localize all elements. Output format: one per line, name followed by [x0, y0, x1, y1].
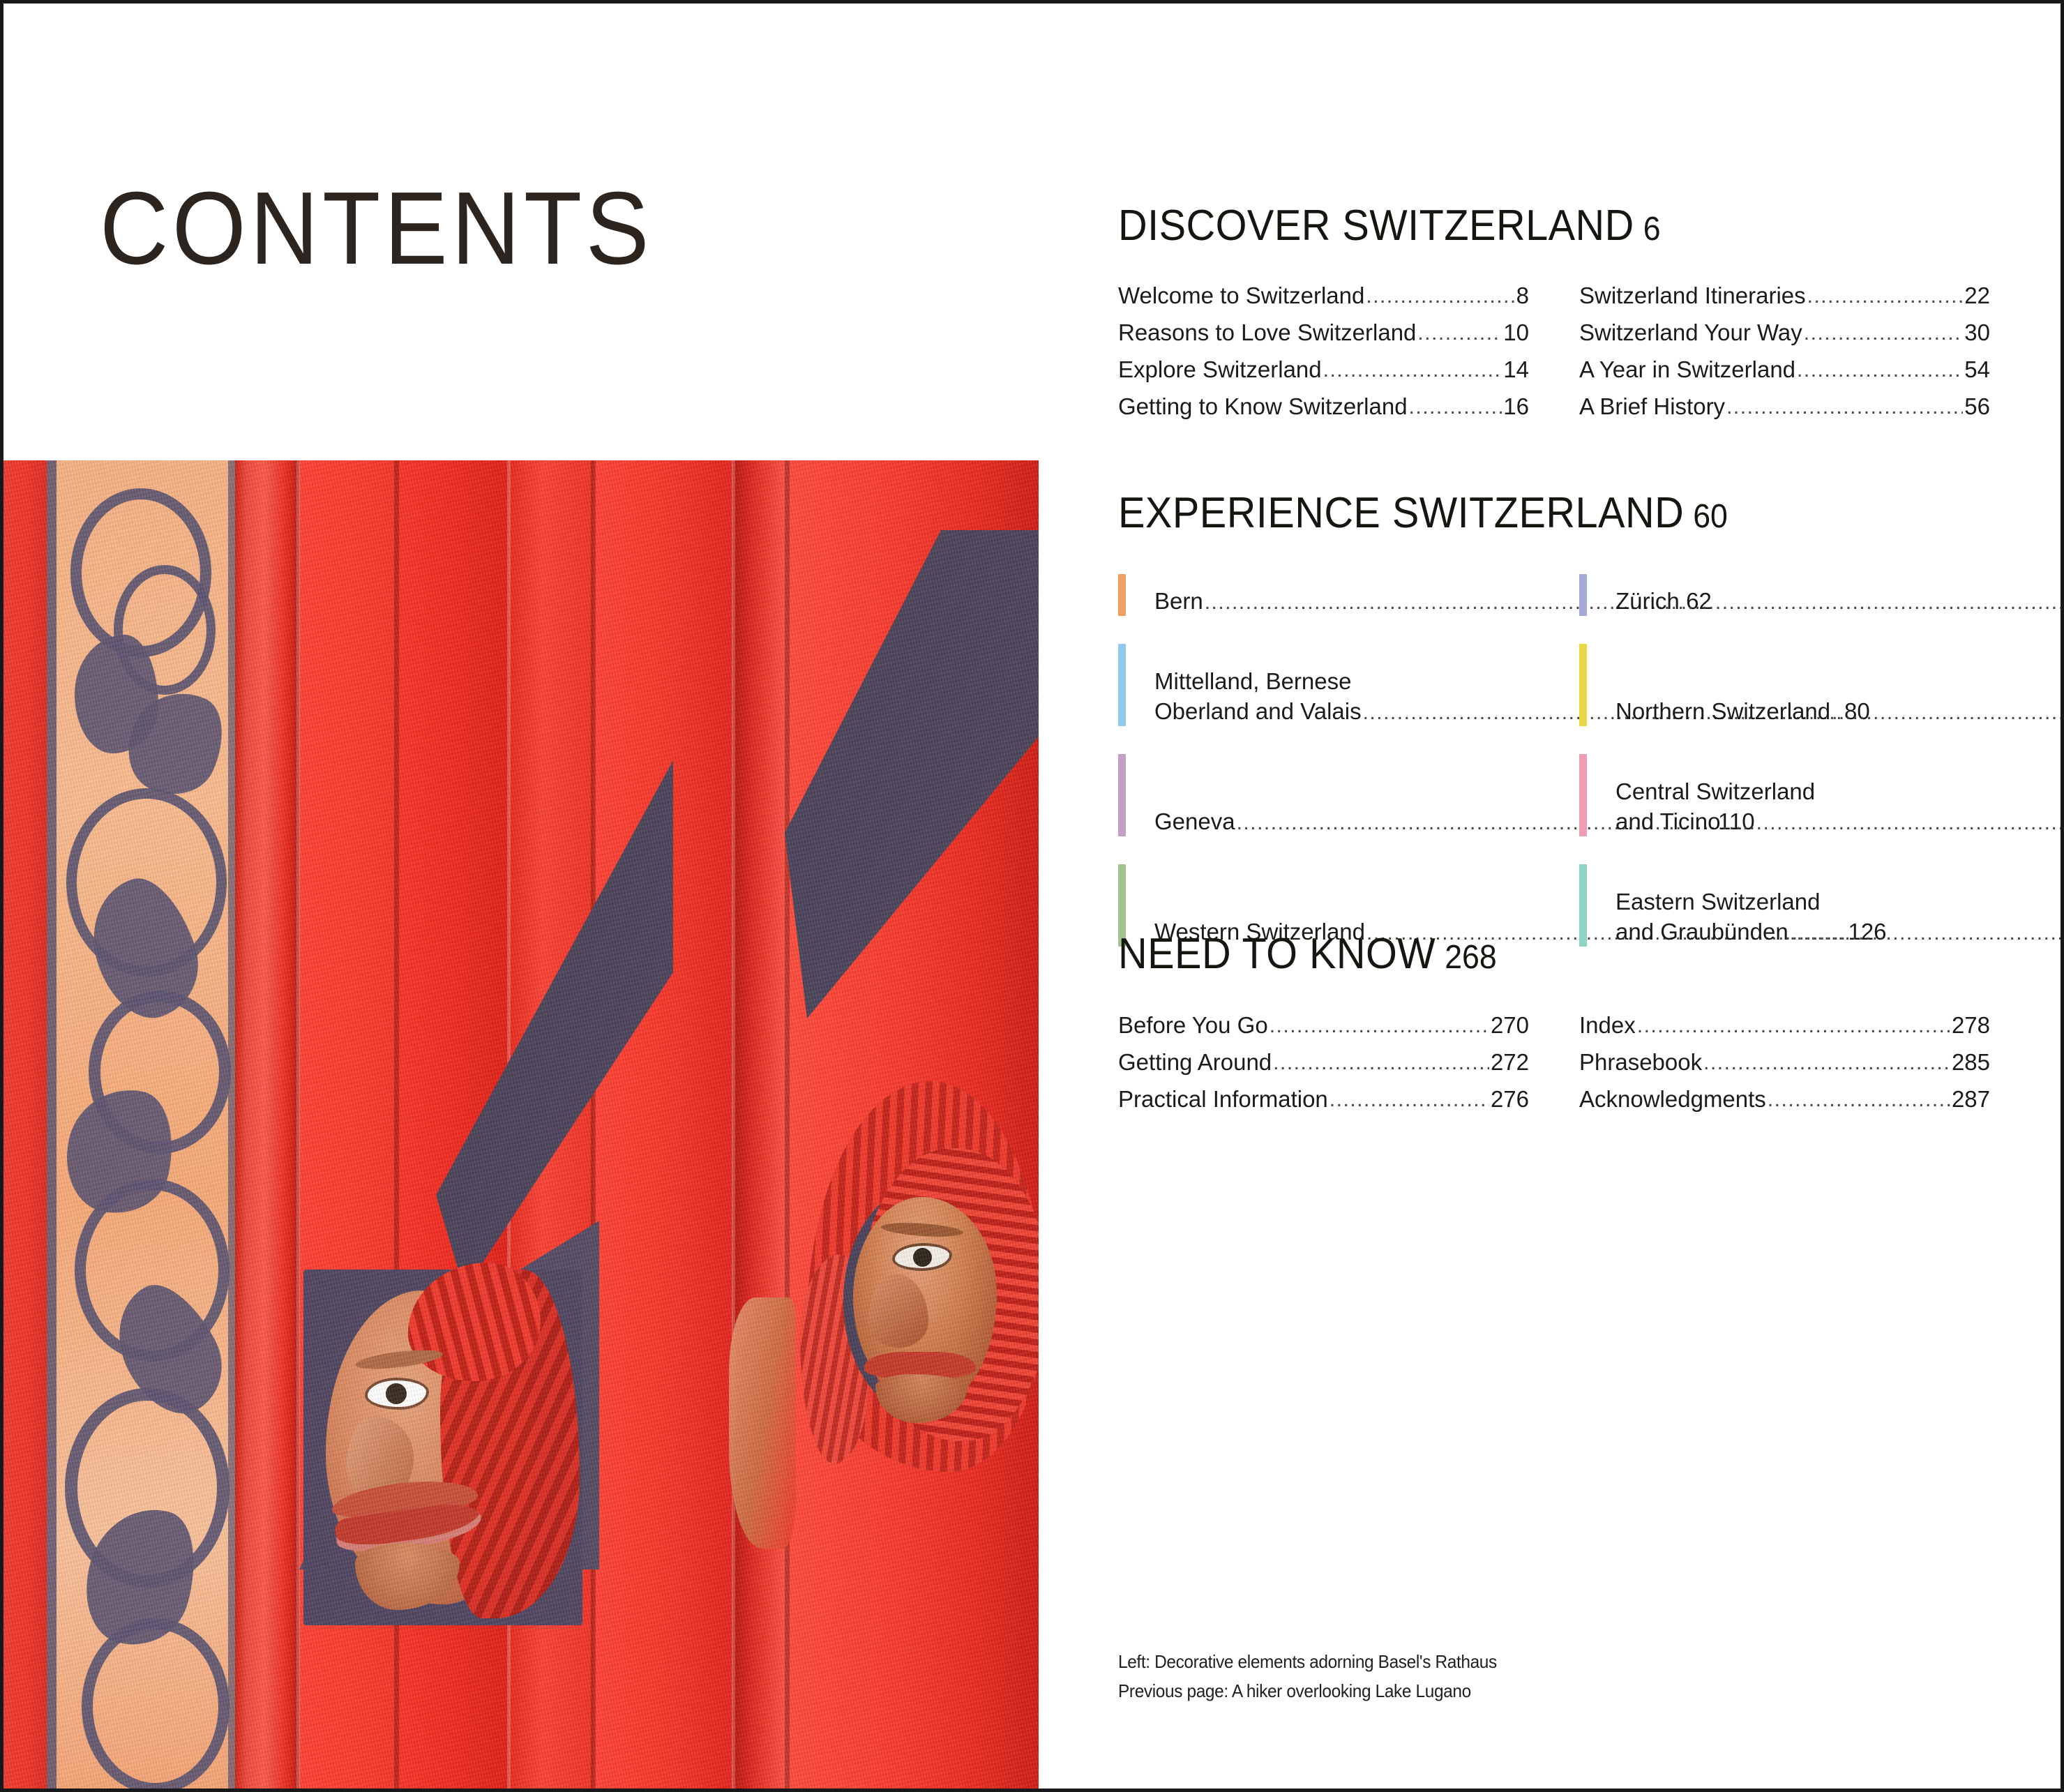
photo-profile-sliver: [729, 1297, 796, 1549]
toc-entry-page: 272: [1491, 1051, 1529, 1074]
dot-leader: ........................................…: [1273, 1053, 1489, 1074]
section-heading-discover: DISCOVER SWITZERLAND6: [1118, 204, 1929, 248]
photo-column-e: [733, 460, 788, 1792]
region-line: Zürich .................................…: [1615, 587, 2064, 616]
toc-entry-page: 285: [1952, 1051, 1990, 1074]
toc-entry-label: Phrasebook: [1579, 1051, 1702, 1074]
toc-entry-page: 276: [1491, 1087, 1529, 1110]
discover-column-left: Welcome to Switzerland .................…: [1118, 284, 1529, 432]
toc-entry-label: A Year in Switzerland: [1579, 358, 1795, 381]
dot-leader: ........................................…: [1323, 360, 1502, 381]
dot-leader: ........................................…: [1329, 1090, 1489, 1110]
photo-column-d: [594, 460, 733, 1792]
dot-leader: ........................................…: [1637, 1016, 1950, 1037]
dot-leader: ........................................…: [1807, 286, 1964, 307]
section-heading-page: 268: [1445, 939, 1496, 976]
section-experience: EXPERIENCE SWITZERLAND60 Bern ..........…: [1118, 492, 1990, 974]
toc-entry[interactable]: A Brief History ........................…: [1579, 395, 1990, 432]
page-title: CONTENTS: [100, 170, 653, 288]
toc-page: CONTENTS DISCOVER SWITZERLAND6 Welcome t…: [0, 0, 2064, 1792]
toc-entry-label: Practical Information: [1118, 1087, 1328, 1110]
photo-groove-6: [785, 460, 790, 1792]
toc-region-entry[interactable]: Bern ...................................…: [1118, 574, 1529, 616]
toc-entry-page: 22: [1964, 284, 1990, 307]
region-label: Geneva: [1154, 807, 1235, 836]
region-color-bar: [1118, 574, 1126, 616]
region-line-1: Central Switzerland: [1615, 777, 2064, 806]
toc-entry-label: Getting to Know Switzerland: [1118, 395, 1408, 418]
region-line-1: Eastern Switzerland: [1615, 887, 2064, 917]
dot-leader: ........................................…: [1366, 286, 1514, 307]
toc-region-entry[interactable]: Mittelland, Bernese Oberland and Valais …: [1118, 644, 1529, 726]
section-need-to-know: NEED TO KNOW268 Before You Go ..........…: [1118, 933, 1990, 1124]
toc-entry-page: 270: [1491, 1014, 1529, 1037]
photo-column-a: [235, 460, 299, 1792]
toc-entry[interactable]: Explore Switzerland ....................…: [1118, 358, 1529, 395]
dot-leader: ........................................…: [1703, 1053, 1950, 1074]
region-label: Zürich: [1615, 587, 1680, 616]
region-label-cont: Oberland and Valais: [1154, 697, 1362, 726]
needtoknow-column-left: Before You Go ..........................…: [1118, 1014, 1529, 1124]
dot-leader: ........................................…: [1270, 1016, 1489, 1037]
toc-entry-page: 10: [1503, 321, 1529, 344]
region-color-bar: [1579, 574, 1587, 616]
toc-entry-page: 278: [1952, 1014, 1990, 1037]
caption-line-1: Left: Decorative elements adorning Basel…: [1118, 1647, 1497, 1676]
section-heading-need-to-know: NEED TO KNOW268: [1118, 933, 1929, 976]
section-heading-text: DISCOVER SWITZERLAND: [1118, 202, 1634, 250]
toc-entry-page: 56: [1964, 395, 1990, 418]
dot-leader: ........................................…: [1832, 700, 2064, 726]
toc-entry[interactable]: Practical Information ..................…: [1118, 1087, 1529, 1124]
toc-entry-label: Switzerland Itineraries: [1579, 284, 1806, 307]
region-line-2: and Ticino .............................…: [1615, 807, 2064, 836]
region-color-bar: [1579, 644, 1587, 726]
carved-face-left: [303, 1270, 582, 1625]
region-color-bar: [1118, 754, 1126, 836]
toc-entry-label: Index: [1579, 1014, 1636, 1037]
photo-groove-5: [732, 460, 735, 1792]
section-discover: DISCOVER SWITZERLAND6 Welcome to Switzer…: [1118, 204, 1990, 432]
toc-region-entry[interactable]: Geneva .................................…: [1118, 754, 1529, 836]
toc-entry[interactable]: Welcome to Switzerland .................…: [1118, 284, 1529, 321]
region-color-bar: [1579, 754, 1587, 836]
discover-column-right: Switzerland Itineraries ................…: [1579, 284, 1990, 432]
toc-entry[interactable]: A Year in Switzerland ..................…: [1579, 358, 1990, 395]
rathaus-photo: [3, 460, 1039, 1792]
region-line: Northern Switzerland ...................…: [1615, 697, 2064, 726]
region-label-cont: and Ticino: [1615, 807, 1720, 836]
toc-entry-page: 287: [1952, 1087, 1990, 1110]
toc-entry[interactable]: Index ..................................…: [1579, 1014, 1990, 1051]
toc-entry-page: 54: [1964, 358, 1990, 381]
toc-entry[interactable]: Switzerland Your Way ...................…: [1579, 321, 1990, 358]
dot-leader: ........................................…: [1417, 323, 1502, 344]
toc-entry[interactable]: Getting Around .........................…: [1118, 1051, 1529, 1087]
region-label: Bern: [1154, 587, 1203, 616]
region-label: Central Switzerland: [1615, 777, 1815, 806]
photo-ornament-panel: [47, 460, 235, 1792]
dot-leader: ........................................…: [1722, 810, 2064, 836]
needtoknow-column-right: Index ..................................…: [1579, 1014, 1990, 1124]
dot-leader: ........................................…: [1804, 323, 1964, 344]
toc-entry-page: 14: [1503, 358, 1529, 381]
photo-groove-1: [296, 460, 300, 1792]
toc-entry-label: Getting Around: [1118, 1051, 1272, 1074]
photo-caption: Left: Decorative elements adorning Basel…: [1118, 1647, 1497, 1706]
toc-entry-label: Switzerland Your Way: [1579, 321, 1802, 344]
toc-entry-label: Explore Switzerland: [1118, 358, 1322, 381]
region-label: Northern Switzerland: [1615, 697, 1830, 726]
dot-leader: ........................................…: [1797, 360, 1963, 381]
toc-entry[interactable]: Before You Go ..........................…: [1118, 1014, 1529, 1051]
photo-red-edge-band: [3, 460, 47, 1792]
toc-entry-page: 16: [1503, 395, 1529, 418]
toc-entry-label: Welcome to Switzerland: [1118, 284, 1364, 307]
toc-entry-label: Before You Go: [1118, 1014, 1268, 1037]
toc-region-entry[interactable]: Zürich .................................…: [1579, 574, 1990, 616]
toc-entry[interactable]: Phrasebook .............................…: [1579, 1051, 1990, 1087]
toc-region-entry[interactable]: Central Switzerland and Ticino .........…: [1579, 754, 1990, 836]
section-heading-page: 6: [1643, 211, 1661, 248]
caption-line-2: Previous page: A hiker overlooking Lake …: [1118, 1676, 1497, 1706]
toc-entry-label: A Brief History: [1579, 395, 1725, 418]
section-heading-text: NEED TO KNOW: [1118, 930, 1436, 978]
toc-entry-label: Acknowledgments: [1579, 1087, 1766, 1110]
section-heading-page: 60: [1693, 498, 1728, 535]
toc-entry[interactable]: Switzerland Itineraries ................…: [1579, 284, 1990, 321]
dot-leader: ........................................…: [1681, 589, 2064, 616]
toc-entry[interactable]: Getting to Know Switzerland ............…: [1118, 395, 1529, 432]
region-label: Mittelland, Bernese: [1154, 667, 1351, 696]
section-heading-experience: EXPERIENCE SWITZERLAND60: [1118, 492, 1929, 535]
dot-leader: ........................................…: [1768, 1090, 1950, 1110]
toc-entry[interactable]: Acknowledgments ........................…: [1579, 1087, 1990, 1124]
experience-column-left: Bern ...................................…: [1118, 574, 1529, 974]
toc-entry-label: Reasons to Love Switzerland: [1118, 321, 1416, 344]
section-heading-text: EXPERIENCE SWITZERLAND: [1118, 489, 1684, 537]
toc-region-entry[interactable]: Northern Switzerland ...................…: [1579, 644, 1990, 726]
region-label: Eastern Switzerland: [1615, 887, 1820, 917]
experience-column-right: Zürich .................................…: [1579, 574, 1990, 974]
dot-leader: ........................................…: [1726, 397, 1963, 418]
photo-groove-4: [591, 460, 596, 1792]
toc-entry-page: 30: [1964, 321, 1990, 344]
toc-entry[interactable]: Reasons to Love Switzerland ............…: [1118, 321, 1529, 358]
carved-face-right: [800, 1081, 1039, 1556]
dot-leader: ........................................…: [1409, 397, 1502, 418]
region-color-bar: [1118, 644, 1126, 726]
toc-entry-page: 8: [1516, 284, 1529, 307]
